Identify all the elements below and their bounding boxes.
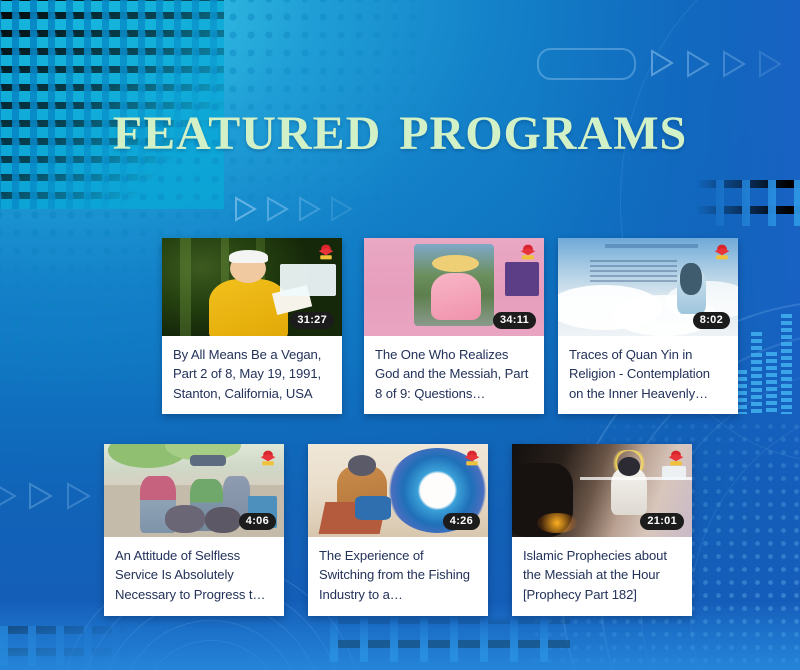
thumbnail-figure-cap bbox=[229, 250, 269, 264]
duration-badge: 34:11 bbox=[493, 312, 536, 329]
supreme-master-logo-icon bbox=[666, 449, 686, 467]
program-thumbnail[interactable]: 8:02 bbox=[558, 238, 738, 336]
thumbnail-figure-hair bbox=[680, 263, 702, 294]
page-title: Featured Programs bbox=[0, 92, 800, 160]
thumbnail-figure bbox=[431, 273, 481, 320]
thumbnail-caption-box bbox=[662, 466, 686, 480]
equalizer-column bbox=[766, 352, 777, 414]
program-title: By All Means Be a Vegan, Part 2 of 8, Ma… bbox=[173, 345, 331, 403]
program-card[interactable]: 34:11 The One Who Realizes God and the M… bbox=[364, 238, 544, 414]
duration-badge: 31:27 bbox=[290, 312, 334, 329]
equalizer-column bbox=[751, 332, 762, 414]
thumbnail-figure-head bbox=[618, 457, 640, 476]
supreme-master-logo-icon bbox=[316, 243, 336, 261]
thumbnail-figure-head bbox=[348, 455, 377, 475]
program-card-body: Traces of Quan Yin in Religion - Contemp… bbox=[558, 336, 738, 413]
program-thumbnail[interactable]: 31:27 bbox=[162, 238, 342, 336]
supreme-master-logo-icon bbox=[712, 243, 732, 261]
play-triangle-icon bbox=[650, 50, 672, 76]
pill-outline-decor bbox=[537, 48, 636, 80]
program-title: An Attitude of Selfless Service Is Absol… bbox=[115, 546, 273, 604]
program-card-body: By All Means Be a Vegan, Part 2 of 8, Ma… bbox=[162, 336, 342, 413]
equalizer-column bbox=[781, 314, 792, 414]
program-card[interactable]: 8:02 Traces of Quan Yin in Religion - Co… bbox=[558, 238, 738, 414]
featured-programs-banner: Featured Programs 31:27 By All Means Be bbox=[0, 0, 800, 670]
duration-badge: 4:26 bbox=[443, 513, 480, 530]
program-card-body: The Experience of Switching from the Fis… bbox=[308, 537, 488, 614]
supreme-master-logo-icon bbox=[462, 449, 482, 467]
program-card[interactable]: 21:01 Islamic Prophecies about the Messi… bbox=[512, 444, 692, 616]
program-title: The Experience of Switching from the Fis… bbox=[319, 546, 477, 604]
thumbnail-text-block bbox=[605, 244, 699, 248]
thumbnail-caption-box bbox=[280, 264, 336, 296]
equalizer-decor bbox=[736, 296, 796, 414]
thumbnail-flame bbox=[537, 513, 577, 533]
duration-badge: 4:06 bbox=[239, 513, 276, 530]
program-card-body: An Attitude of Selfless Service Is Absol… bbox=[104, 537, 284, 614]
supreme-master-logo-icon bbox=[258, 449, 278, 467]
program-title: Islamic Prophecies about the Messiah at … bbox=[523, 546, 681, 604]
program-thumbnail[interactable]: 34:11 bbox=[364, 238, 544, 336]
thumbnail-car bbox=[190, 455, 226, 466]
program-card[interactable]: 4:26 The Experience of Switching from th… bbox=[308, 444, 488, 616]
program-thumbnail[interactable]: 4:06 bbox=[104, 444, 284, 537]
thumbnail-detail bbox=[180, 238, 191, 336]
thumbnail-trash-bag bbox=[205, 507, 241, 533]
program-title: The One Who Realizes God and the Messiah… bbox=[375, 345, 533, 403]
thumbnail-net bbox=[355, 496, 391, 520]
thumbnail-caption-box bbox=[505, 262, 539, 296]
square-grid-right bbox=[690, 180, 800, 226]
program-card[interactable]: 4:06 An Attitude of Selfless Service Is … bbox=[104, 444, 284, 616]
thumbnail-trash-bag bbox=[165, 505, 205, 533]
duration-badge: 21:01 bbox=[640, 513, 684, 530]
program-card-body: Islamic Prophecies about the Messiah at … bbox=[512, 537, 692, 614]
program-title: Traces of Quan Yin in Religion - Contemp… bbox=[569, 345, 727, 403]
supreme-master-logo-icon bbox=[518, 243, 538, 261]
program-card-body: The One Who Realizes God and the Messiah… bbox=[364, 336, 544, 413]
thumbnail-text-block bbox=[590, 260, 676, 282]
program-card[interactable]: 31:27 By All Means Be a Vegan, Part 2 of… bbox=[162, 238, 342, 414]
program-thumbnail[interactable]: 21:01 bbox=[512, 444, 692, 537]
duration-badge: 8:02 bbox=[693, 312, 730, 329]
program-thumbnail[interactable]: 4:26 bbox=[308, 444, 488, 537]
